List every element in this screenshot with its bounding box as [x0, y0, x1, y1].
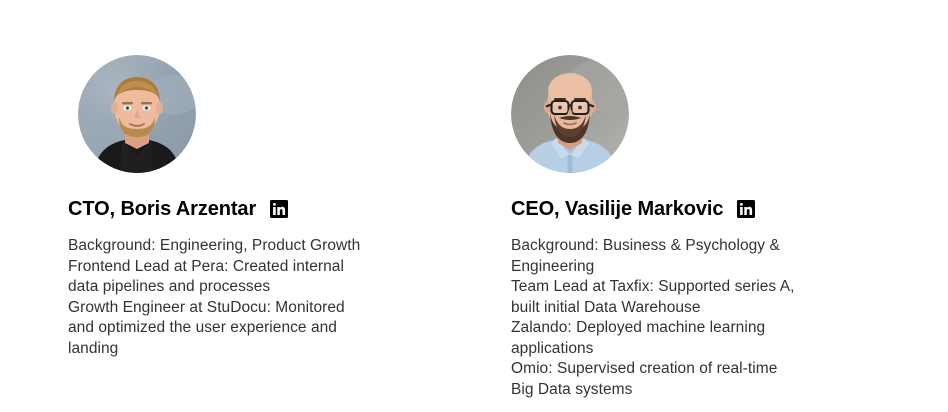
bio-line: Background: Business & Psychology & — [511, 236, 863, 257]
team-profiles-section: CTO, Boris Arzentar Background: Engineer… — [0, 0, 948, 412]
page-title-ceo: CEO, Vasilije Markovic — [511, 197, 723, 221]
avatar-vasilije-markovic — [511, 55, 629, 173]
bio-line: Team Lead at Taxfix: Supported series A, — [511, 277, 863, 298]
bio-line: Zalando: Deployed machine learning — [511, 318, 863, 339]
bio-line: Growth Engineer at StuDocu: Monitored — [68, 298, 420, 319]
profile-name-row-ceo: CEO, Vasilije Markovic — [511, 197, 755, 221]
bio-line: built initial Data Warehouse — [511, 298, 863, 319]
profile-name-row-cto: CTO, Boris Arzentar — [68, 197, 288, 221]
bio-line: Omio: Supervised creation of real-time — [511, 359, 863, 380]
page-title-cto: CTO, Boris Arzentar — [68, 197, 256, 221]
bio-line: and optimized the user experience and — [68, 318, 420, 339]
profile-bio-ceo: Background: Business & Psychology & Engi… — [511, 236, 863, 400]
bio-line: Big Data systems — [511, 380, 863, 401]
bio-line: Engineering — [511, 257, 863, 278]
linkedin-icon[interactable] — [270, 200, 288, 218]
bio-line: landing — [68, 339, 420, 360]
bio-line: Background: Engineering, Product Growth — [68, 236, 420, 257]
linkedin-icon[interactable] — [737, 200, 755, 218]
bio-line: Frontend Lead at Pera: Created internal — [68, 257, 420, 278]
bio-line: data pipelines and processes — [68, 277, 420, 298]
avatar-boris-arzentar — [78, 55, 196, 173]
bio-line: applications — [511, 339, 863, 360]
profile-bio-cto: Background: Engineering, Product Growth … — [68, 236, 420, 359]
